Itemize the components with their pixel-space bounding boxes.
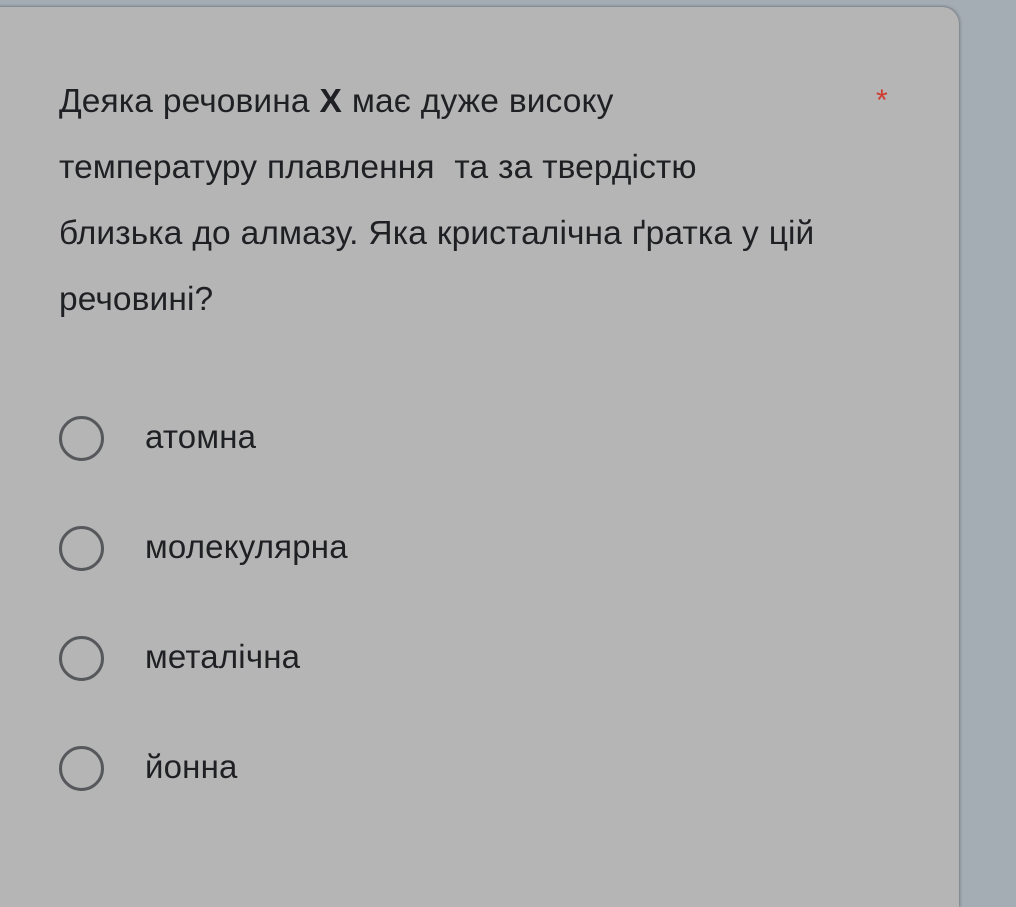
radio-button-icon[interactable] — [59, 416, 104, 461]
option-label: молекулярна — [145, 524, 348, 570]
option-row-metalichna[interactable]: металічна — [59, 634, 935, 744]
question-header: Деяка речовина X має дуже високу темпера… — [59, 69, 935, 333]
option-row-atomna[interactable]: атомна — [59, 414, 935, 524]
question-emphasis-x: X — [319, 83, 341, 120]
page-viewport: Деяка речовина X має дуже високу темпера… — [0, 0, 1016, 865]
question-title: Деяка речовина X має дуже високу темпера… — [59, 69, 819, 333]
question-card-content: Деяка речовина X має дуже високу темпера… — [0, 7, 959, 907]
option-label: йонна — [145, 744, 238, 790]
option-label: металічна — [145, 634, 300, 680]
option-row-yonna[interactable]: йонна — [59, 744, 935, 854]
radio-button-icon[interactable] — [59, 636, 104, 681]
option-row-molekulyarna[interactable]: молекулярна — [59, 524, 935, 634]
question-text-part-1: Деяка речовина — [59, 83, 319, 120]
radio-button-icon[interactable] — [59, 746, 104, 791]
option-label: атомна — [145, 414, 256, 460]
required-asterisk: * — [876, 86, 888, 116]
radio-button-icon[interactable] — [59, 526, 104, 571]
answer-options-group: атомна молекулярна металічна йонна — [59, 414, 935, 854]
question-card: Деяка речовина X має дуже високу темпера… — [0, 7, 959, 907]
